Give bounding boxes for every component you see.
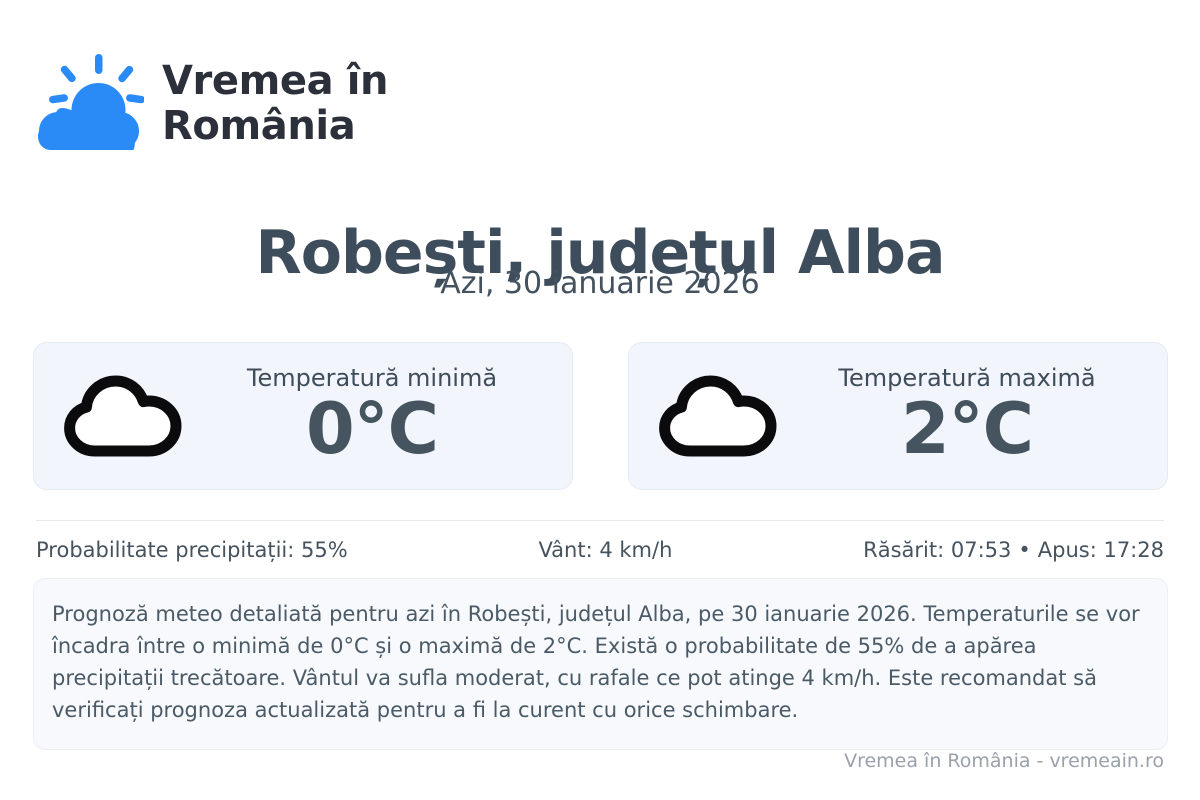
temperature-max-card: Temperatură maximă 2°C [628,342,1168,490]
sun-times-stat: Răsărit: 07:53•Apus: 17:28 [863,538,1164,563]
precipitation-stat: Probabilitate precipitații: 55% [36,538,348,563]
site-logo[interactable]: Vremea în România [36,52,388,156]
sunrise-value: Răsărit: 07:53 [863,538,1011,562]
temperature-cards: Temperatură minimă 0°C Temperatură maxim… [33,342,1168,490]
temperature-min-body: Temperatură minimă 0°C [186,365,558,467]
temperature-min-value: 0°C [306,393,438,467]
wind-stat: Vânt: 4 km/h [538,538,672,563]
weather-page: Vremea în România Robești, județul Alba … [0,0,1200,800]
site-logo-text: Vremea în România [162,59,388,149]
cloud-icon [659,373,777,459]
temperature-min-card: Temperatură minimă 0°C [33,342,573,490]
site-footer: Vremea în România - vremeain.ro [844,750,1164,773]
sun-times-separator: • [1011,538,1037,562]
temperature-max-body: Temperatură maximă 2°C [781,365,1153,467]
stats-divider [36,520,1164,521]
sun-cloud-icon [36,52,144,156]
temperature-max-value: 2°C [901,393,1033,467]
weather-stats: Probabilitate precipitații: 55% Vânt: 4 … [36,538,1164,563]
sunset-value: Apus: 17:28 [1038,538,1164,562]
page-subtitle: Azi, 30 ianuarie 2026 [0,266,1200,302]
cloud-icon [64,373,182,459]
forecast-description: Prognoză meteo detaliată pentru azi în R… [33,578,1168,750]
